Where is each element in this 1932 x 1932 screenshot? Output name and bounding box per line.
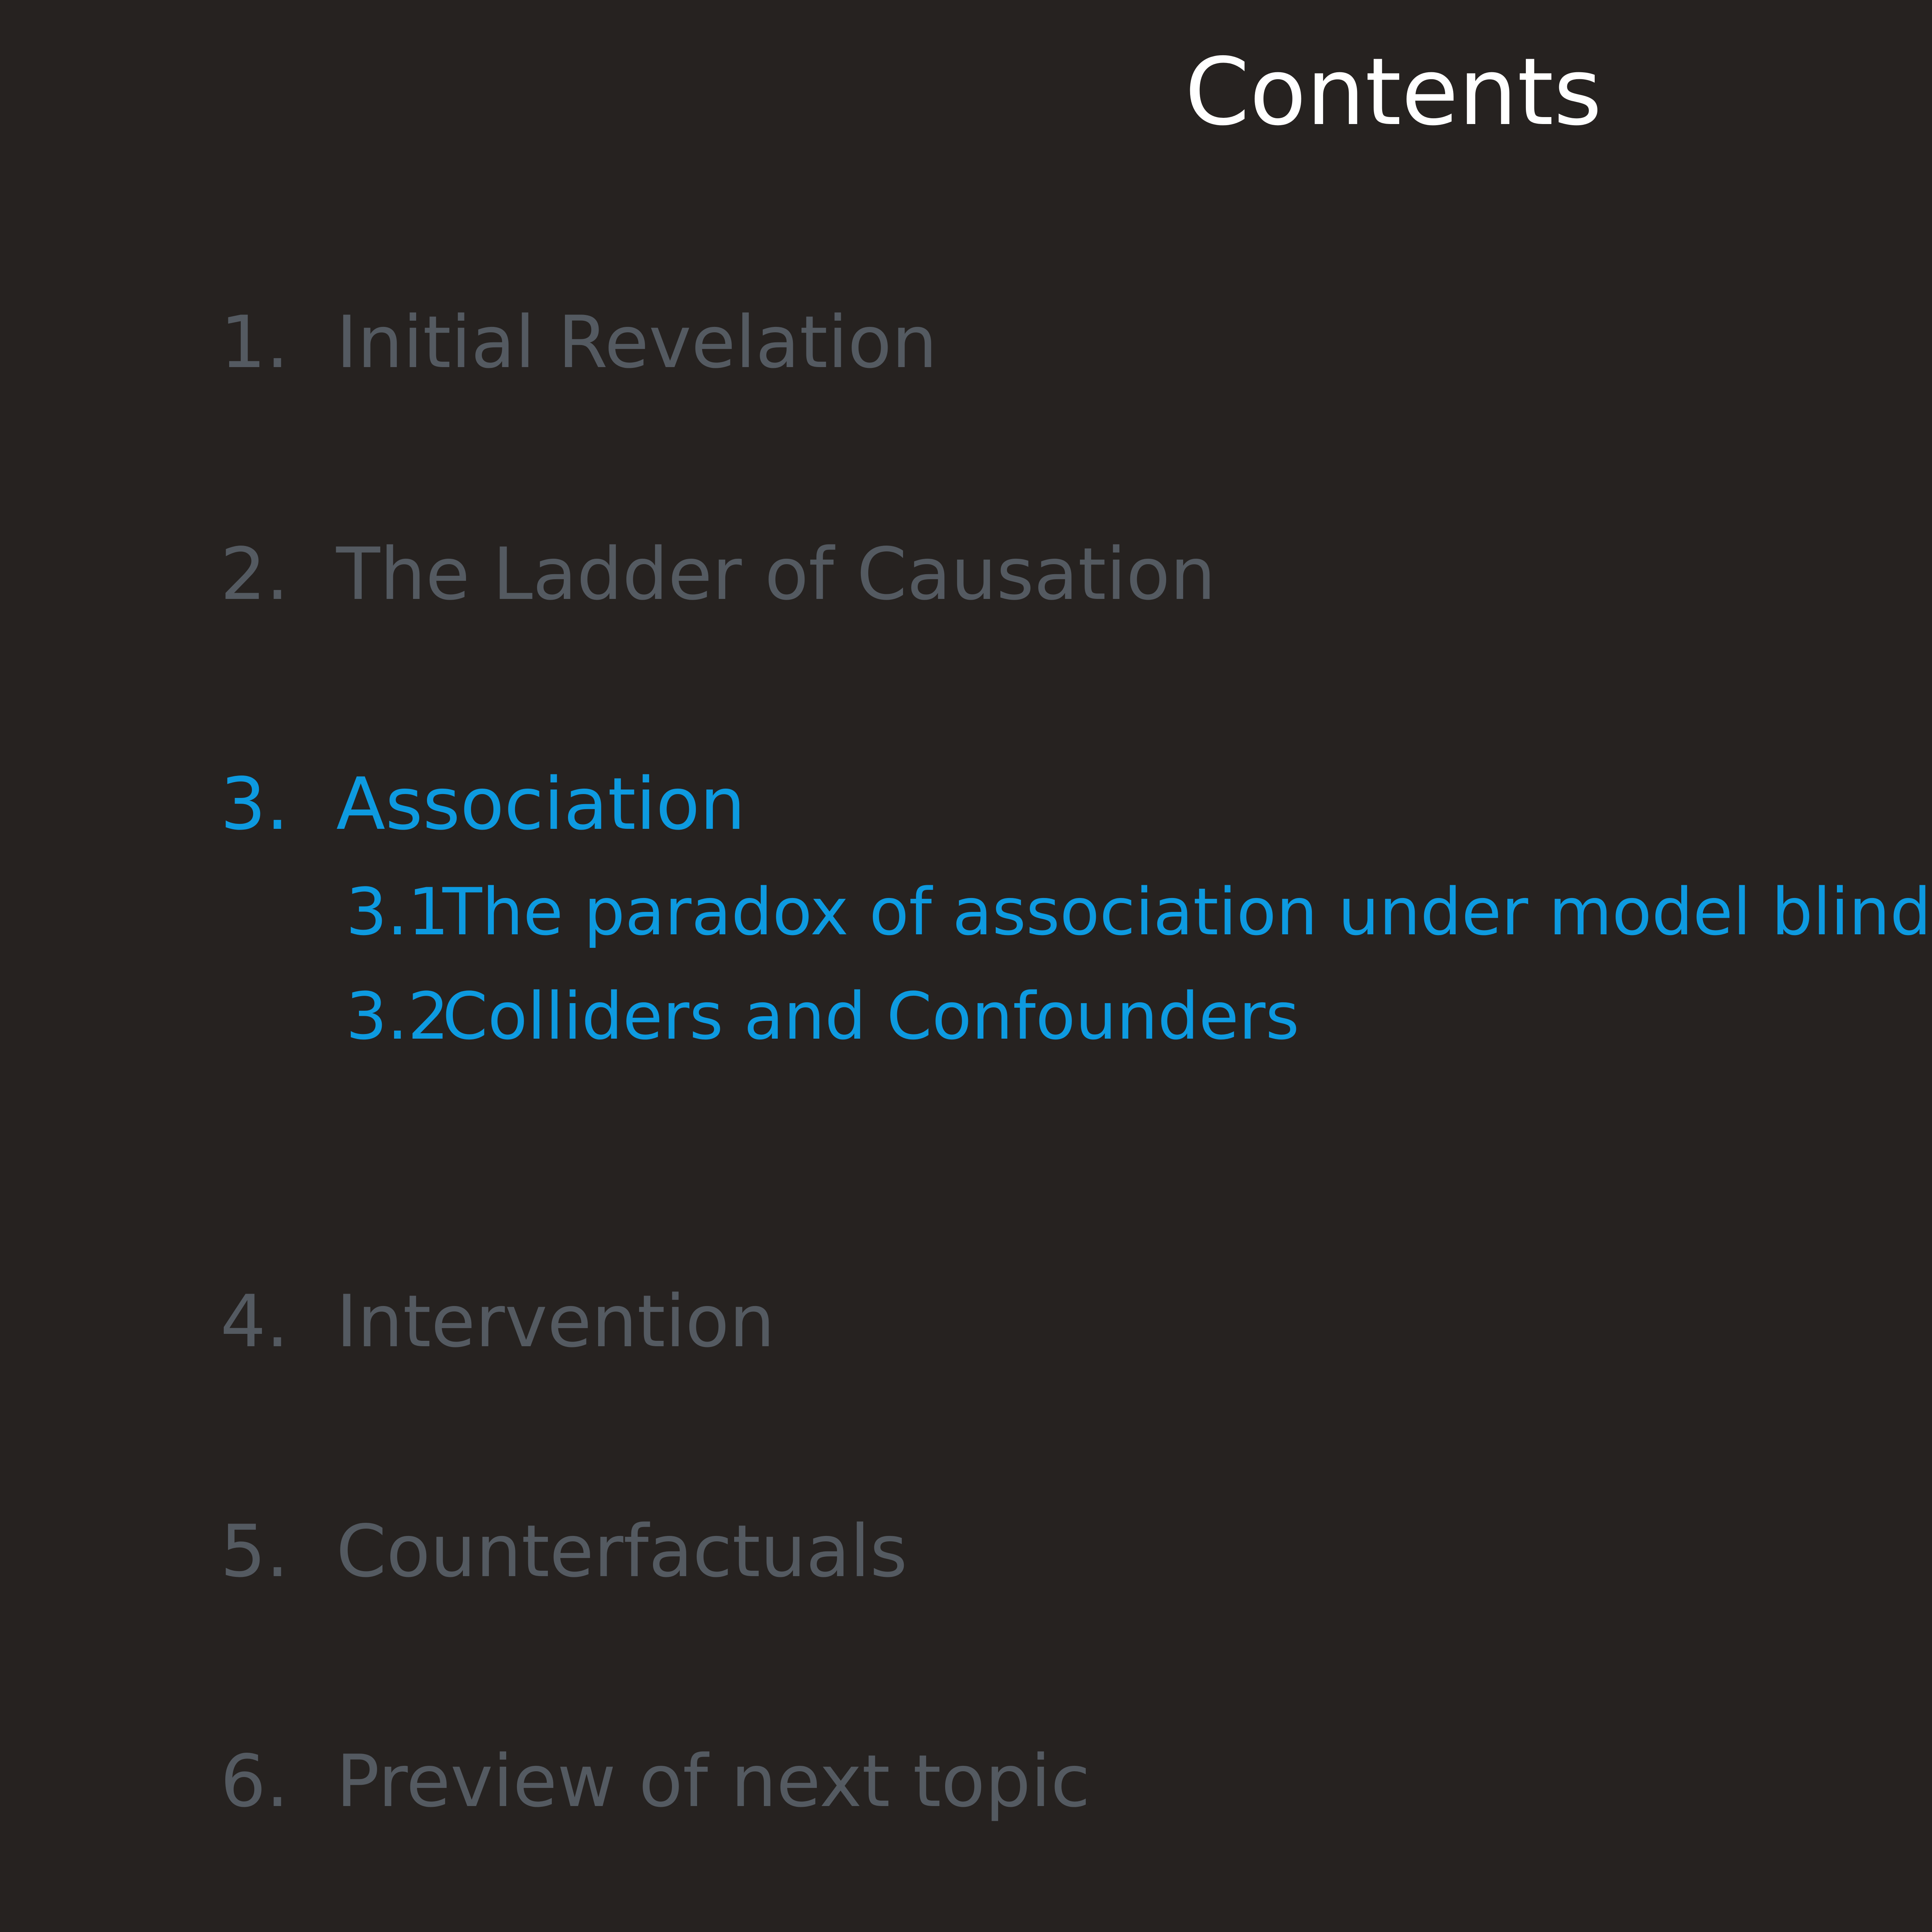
toc-section-label: Counterfactuals — [336, 1509, 907, 1593]
toc-subsection-3-2[interactable]: 3.2Colliders and Confounders — [346, 982, 1299, 1050]
toc-subsection-label: Colliders and Confounders — [442, 978, 1299, 1054]
toc-section-number: 2. — [220, 536, 336, 612]
toc-section-label: Initial Revelation — [336, 300, 937, 384]
toc-section-6[interactable]: 6.Preview of next topic — [220, 1743, 1090, 1819]
toc-subsection-label: The paradox of association under model b… — [442, 874, 1932, 950]
toc-section-label: The Ladder of Causation — [336, 532, 1216, 616]
toc-section-number: 6. — [220, 1743, 336, 1819]
toc-subsection-number: 3.1 — [346, 878, 442, 946]
presentation-slide: Contents 1.Initial Revelation 2.The Ladd… — [0, 0, 1932, 1932]
toc-section-2[interactable]: 2.The Ladder of Causation — [220, 536, 1216, 612]
toc-subsection-3-1[interactable]: 3.1The paradox of association under mode… — [346, 878, 1932, 946]
toc-section-label: Association — [336, 762, 745, 846]
toc-section-label: Intervention — [336, 1279, 775, 1363]
toc-section-3[interactable]: 3.Association — [220, 766, 745, 842]
page-title: Contents — [0, 46, 1932, 138]
toc-section-5[interactable]: 5.Counterfactuals — [220, 1514, 907, 1589]
toc-section-number: 5. — [220, 1514, 336, 1589]
toc-section-number: 1. — [220, 304, 336, 380]
toc-section-1[interactable]: 1.Initial Revelation — [220, 304, 937, 380]
toc-section-4[interactable]: 4.Intervention — [220, 1284, 775, 1359]
toc-section-number: 4. — [220, 1284, 336, 1359]
toc-subsection-number: 3.2 — [346, 982, 442, 1050]
toc-section-number: 3. — [220, 766, 336, 842]
toc-section-label: Preview of next topic — [336, 1739, 1090, 1823]
